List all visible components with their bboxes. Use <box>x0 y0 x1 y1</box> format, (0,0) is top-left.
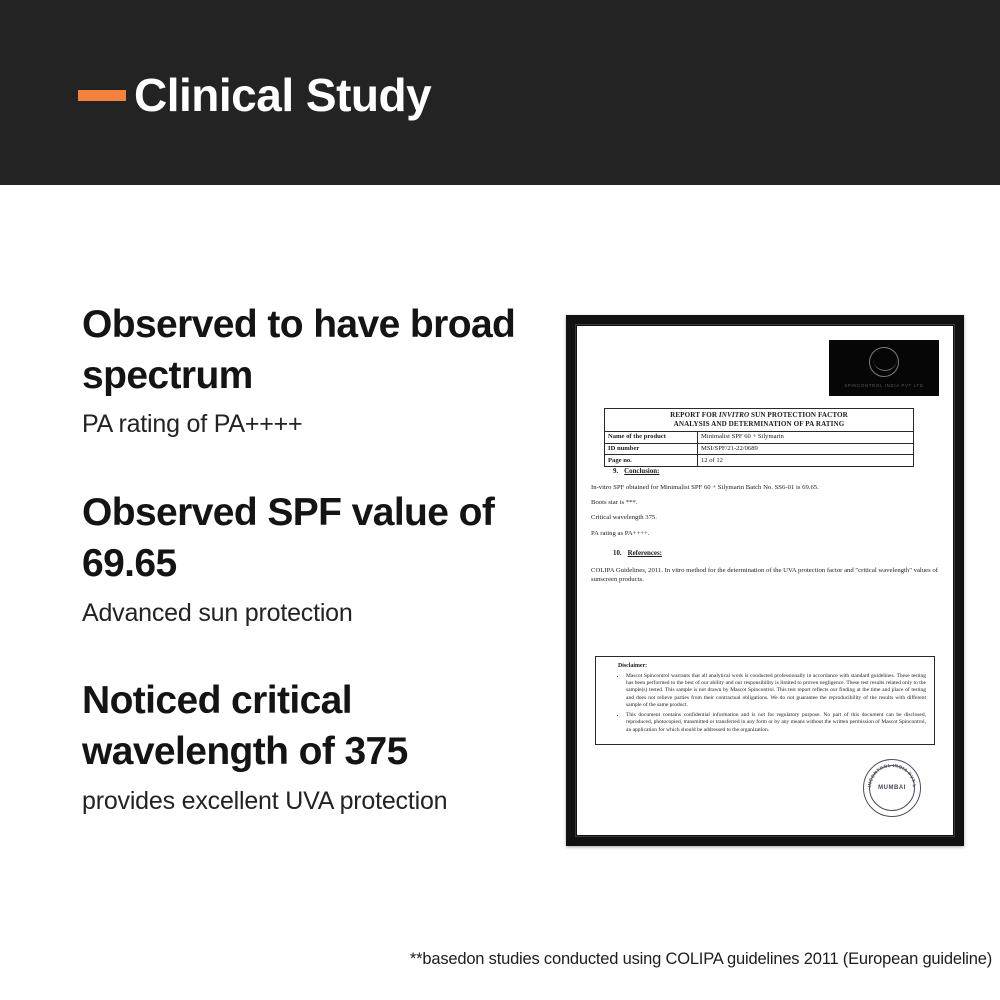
footnote-text: **basedon studies conducted using COLIPA… <box>0 950 1000 969</box>
references-text: COLIPA Guidelines, 2011. In vitro method… <box>591 566 939 584</box>
table-row: REPORT FOR INVITRO SUN PROTECTION FACTOR… <box>605 409 914 432</box>
table-cell-label: ID number <box>605 443 698 455</box>
table-cell-label: Page no. <box>605 455 698 467</box>
conclusion-number: 9. <box>613 468 618 477</box>
lab-logo-caption: SPINCONTROL INDIA PVT LTD <box>829 383 939 388</box>
conclusion-line: In-vitro SPF obtained for Minimalist SPF… <box>591 484 939 493</box>
claim-block-broad-spectrum: Observed to have broad spectrum PA ratin… <box>82 300 552 442</box>
conclusion-line: Boots star is ***. <box>591 499 939 508</box>
list-item: Mascot Spincontrol warrants that all ana… <box>626 673 926 709</box>
report-document-page: SPINCONTROL INDIA PVT LTD REPORT FOR INV… <box>577 326 953 835</box>
table-cell-value: MSI/SPF/21-22/0689 <box>698 443 914 455</box>
disclaimer-title: Disclaimer: <box>618 663 926 671</box>
header-content: Clinical Study <box>78 72 431 118</box>
report-title-line-2: ANALYSIS AND DETERMINATION OF PA RATING <box>674 420 845 428</box>
references-heading-label: References: <box>628 550 662 557</box>
report-title-italic: INVITRO <box>719 411 749 419</box>
references-heading: 10.References: <box>613 550 939 559</box>
list-item: This document contains confidential info… <box>626 712 926 734</box>
claim-heading: Noticed critical wavelength of 375 <box>82 676 552 777</box>
table-cell-value: 12 of 12 <box>698 455 914 467</box>
table-row: Page no. 12 of 12 <box>605 455 914 467</box>
table-row: ID number MSI/SPF/21-22/0689 <box>605 443 914 455</box>
references-number: 10. <box>613 550 622 559</box>
table-cell-label: Name of the product <box>605 431 698 443</box>
header-bar: Clinical Study <box>0 0 1000 185</box>
claims-column: Observed to have broad spectrum PA ratin… <box>82 300 552 818</box>
disclaimer-box: Disclaimer: Mascot Spincontrol warrants … <box>595 656 935 745</box>
claim-subtext: PA rating of PA++++ <box>82 408 552 442</box>
accent-dash-icon <box>78 90 126 101</box>
report-document-frame: SPINCONTROL INDIA PVT LTD REPORT FOR INV… <box>566 315 964 846</box>
company-stamp-icon: SPINCONTROL INDIA PVT LTD MUMBAI <box>863 759 921 817</box>
report-title-prefix: REPORT FOR <box>670 411 719 419</box>
lab-logo-emblem-icon <box>869 347 899 377</box>
report-header-table: REPORT FOR INVITRO SUN PROTECTION FACTOR… <box>604 408 914 467</box>
conclusion-line: PA rating as PA++++. <box>591 530 939 539</box>
table-cell-value: Minimalist SPF 60 + Silymarin <box>698 431 914 443</box>
claim-subtext: Advanced sun protection <box>82 597 552 631</box>
clinical-study-page: Clinical Study Observed to have broad sp… <box>0 0 1000 1000</box>
stamp-arc-label: SPINCONTROL INDIA PVT LTD <box>863 759 917 788</box>
claim-heading: Observed to have broad spectrum <box>82 300 552 401</box>
conclusion-heading: 9.Conclusion: <box>613 468 939 477</box>
lab-logo-icon: SPINCONTROL INDIA PVT LTD <box>829 340 939 396</box>
claim-block-critical-wavelength: Noticed critical wavelength of 375 provi… <box>82 676 552 818</box>
disclaimer-list: Mascot Spincontrol warrants that all ana… <box>620 673 926 734</box>
claim-heading: Observed SPF value of 69.65 <box>82 488 552 589</box>
claim-block-spf-value: Observed SPF value of 69.65 Advanced sun… <box>82 488 552 630</box>
report-body: 9.Conclusion: In-vitro SPF obtained for … <box>591 468 939 591</box>
stamp-center-label: MUMBAI <box>863 785 921 791</box>
conclusion-heading-label: Conclusion: <box>624 468 659 475</box>
report-title-suffix: SUN PROTECTION FACTOR <box>749 411 848 419</box>
claim-subtext: provides excellent UVA protection <box>82 785 552 819</box>
conclusion-line: Critical wavelength 375. <box>591 514 939 523</box>
table-row: Name of the product Minimalist SPF 60 + … <box>605 431 914 443</box>
report-table-title: REPORT FOR INVITRO SUN PROTECTION FACTOR… <box>605 409 914 432</box>
page-title: Clinical Study <box>134 72 431 118</box>
